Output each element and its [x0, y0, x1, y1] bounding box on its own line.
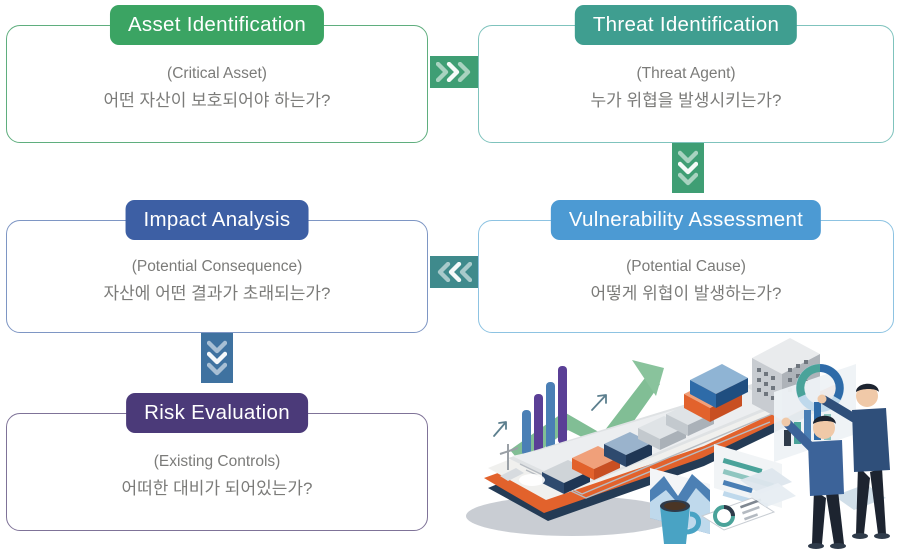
node-vulnerability-subtitle: (Potential Cause): [478, 255, 894, 279]
node-threat-identification[interactable]: Threat Identification (Threat Agent) 누가 …: [478, 25, 894, 143]
node-threat-text: (Threat Agent) 누가 위협을 발생시키는가?: [478, 62, 894, 114]
node-impact-question: 자산에 어떤 결과가 초래되는가?: [6, 281, 428, 307]
node-threat-question: 누가 위협을 발생시키는가?: [478, 88, 894, 114]
chevron-down-icon: [207, 340, 227, 376]
connector-threat-to-vulnerability: [672, 143, 704, 193]
node-asset-identification[interactable]: Asset Identification (Critical Asset) 어떤…: [6, 25, 428, 143]
node-impact-text: (Potential Consequence) 자산에 어떤 결과가 초래되는가…: [6, 255, 428, 307]
node-vulnerability-text: (Potential Cause) 어떻게 위협이 발생하는가?: [478, 255, 894, 307]
diagram-canvas: Asset Identification (Critical Asset) 어떤…: [0, 0, 900, 552]
node-risk-subtitle: (Existing Controls): [6, 450, 428, 474]
node-vulnerability-assessment[interactable]: Vulnerability Assessment (Potential Caus…: [478, 220, 894, 333]
chevron-down-icon: [678, 150, 698, 186]
node-risk-evaluation[interactable]: Risk Evaluation (Existing Controls) 어떠한 …: [6, 413, 428, 531]
chevron-right-icon: [436, 62, 472, 82]
node-risk-header: Risk Evaluation: [126, 393, 308, 433]
node-impact-analysis[interactable]: Impact Analysis (Potential Consequence) …: [6, 220, 428, 333]
node-asset-question: 어떤 자산이 보호되어야 하는가?: [6, 88, 428, 114]
node-impact-header: Impact Analysis: [126, 200, 309, 240]
node-asset-subtitle: (Critical Asset): [6, 62, 428, 86]
node-threat-header: Threat Identification: [575, 5, 797, 45]
connector-asset-to-threat: [430, 56, 478, 88]
node-threat-subtitle: (Threat Agent): [478, 62, 894, 86]
isometric-shipping-analytics-illustration: [452, 338, 900, 552]
connector-impact-to-risk: [201, 333, 233, 383]
node-vulnerability-header: Vulnerability Assessment: [551, 200, 821, 240]
node-asset-text: (Critical Asset) 어떤 자산이 보호되어야 하는가?: [6, 62, 428, 114]
node-asset-header: Asset Identification: [110, 5, 324, 45]
chevron-left-icon: [436, 262, 472, 282]
node-risk-question: 어떠한 대비가 되어있는가?: [6, 476, 428, 502]
node-risk-text: (Existing Controls) 어떠한 대비가 되어있는가?: [6, 450, 428, 502]
connector-vulnerability-to-impact: [430, 256, 478, 288]
node-impact-subtitle: (Potential Consequence): [6, 255, 428, 279]
node-vulnerability-question: 어떻게 위협이 발생하는가?: [478, 281, 894, 307]
